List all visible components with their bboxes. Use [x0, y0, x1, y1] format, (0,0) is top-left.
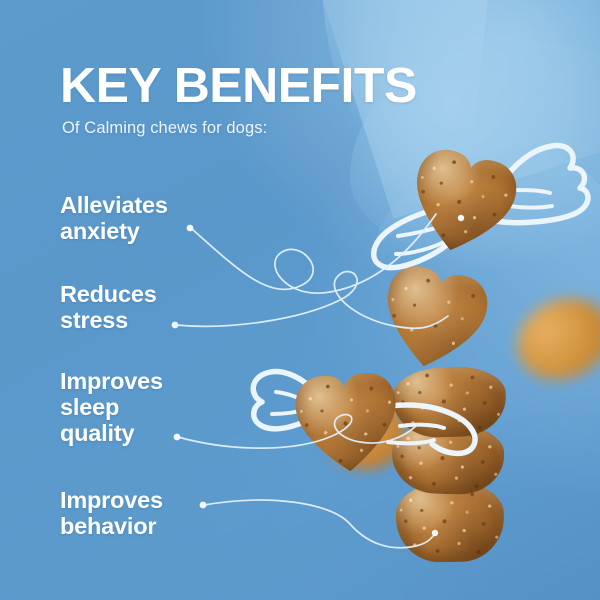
key-benefits-poster: KEY BENEFITS Of Calming chews for dogs: …: [0, 0, 600, 600]
benefit-label-4: Improves behavior: [60, 487, 163, 539]
page-title: KEY BENEFITS: [60, 60, 417, 112]
stacked-chew-2: [392, 365, 507, 439]
page-subtitle: Of Calming chews for dogs:: [62, 118, 267, 138]
benefit-label-1: Alleviates anxiety: [60, 192, 168, 244]
benefit-label-2: Reduces stress: [60, 281, 157, 333]
connector-dot-2: [172, 322, 179, 329]
connector-dot-1: [187, 225, 194, 232]
connector-dot-4: [200, 502, 207, 509]
winged-chew-top: [402, 144, 527, 264]
connector-dot-3: [174, 434, 181, 441]
benefit-label-3: Improves sleep quality: [60, 368, 163, 446]
blurred-chew-right: [504, 284, 600, 394]
